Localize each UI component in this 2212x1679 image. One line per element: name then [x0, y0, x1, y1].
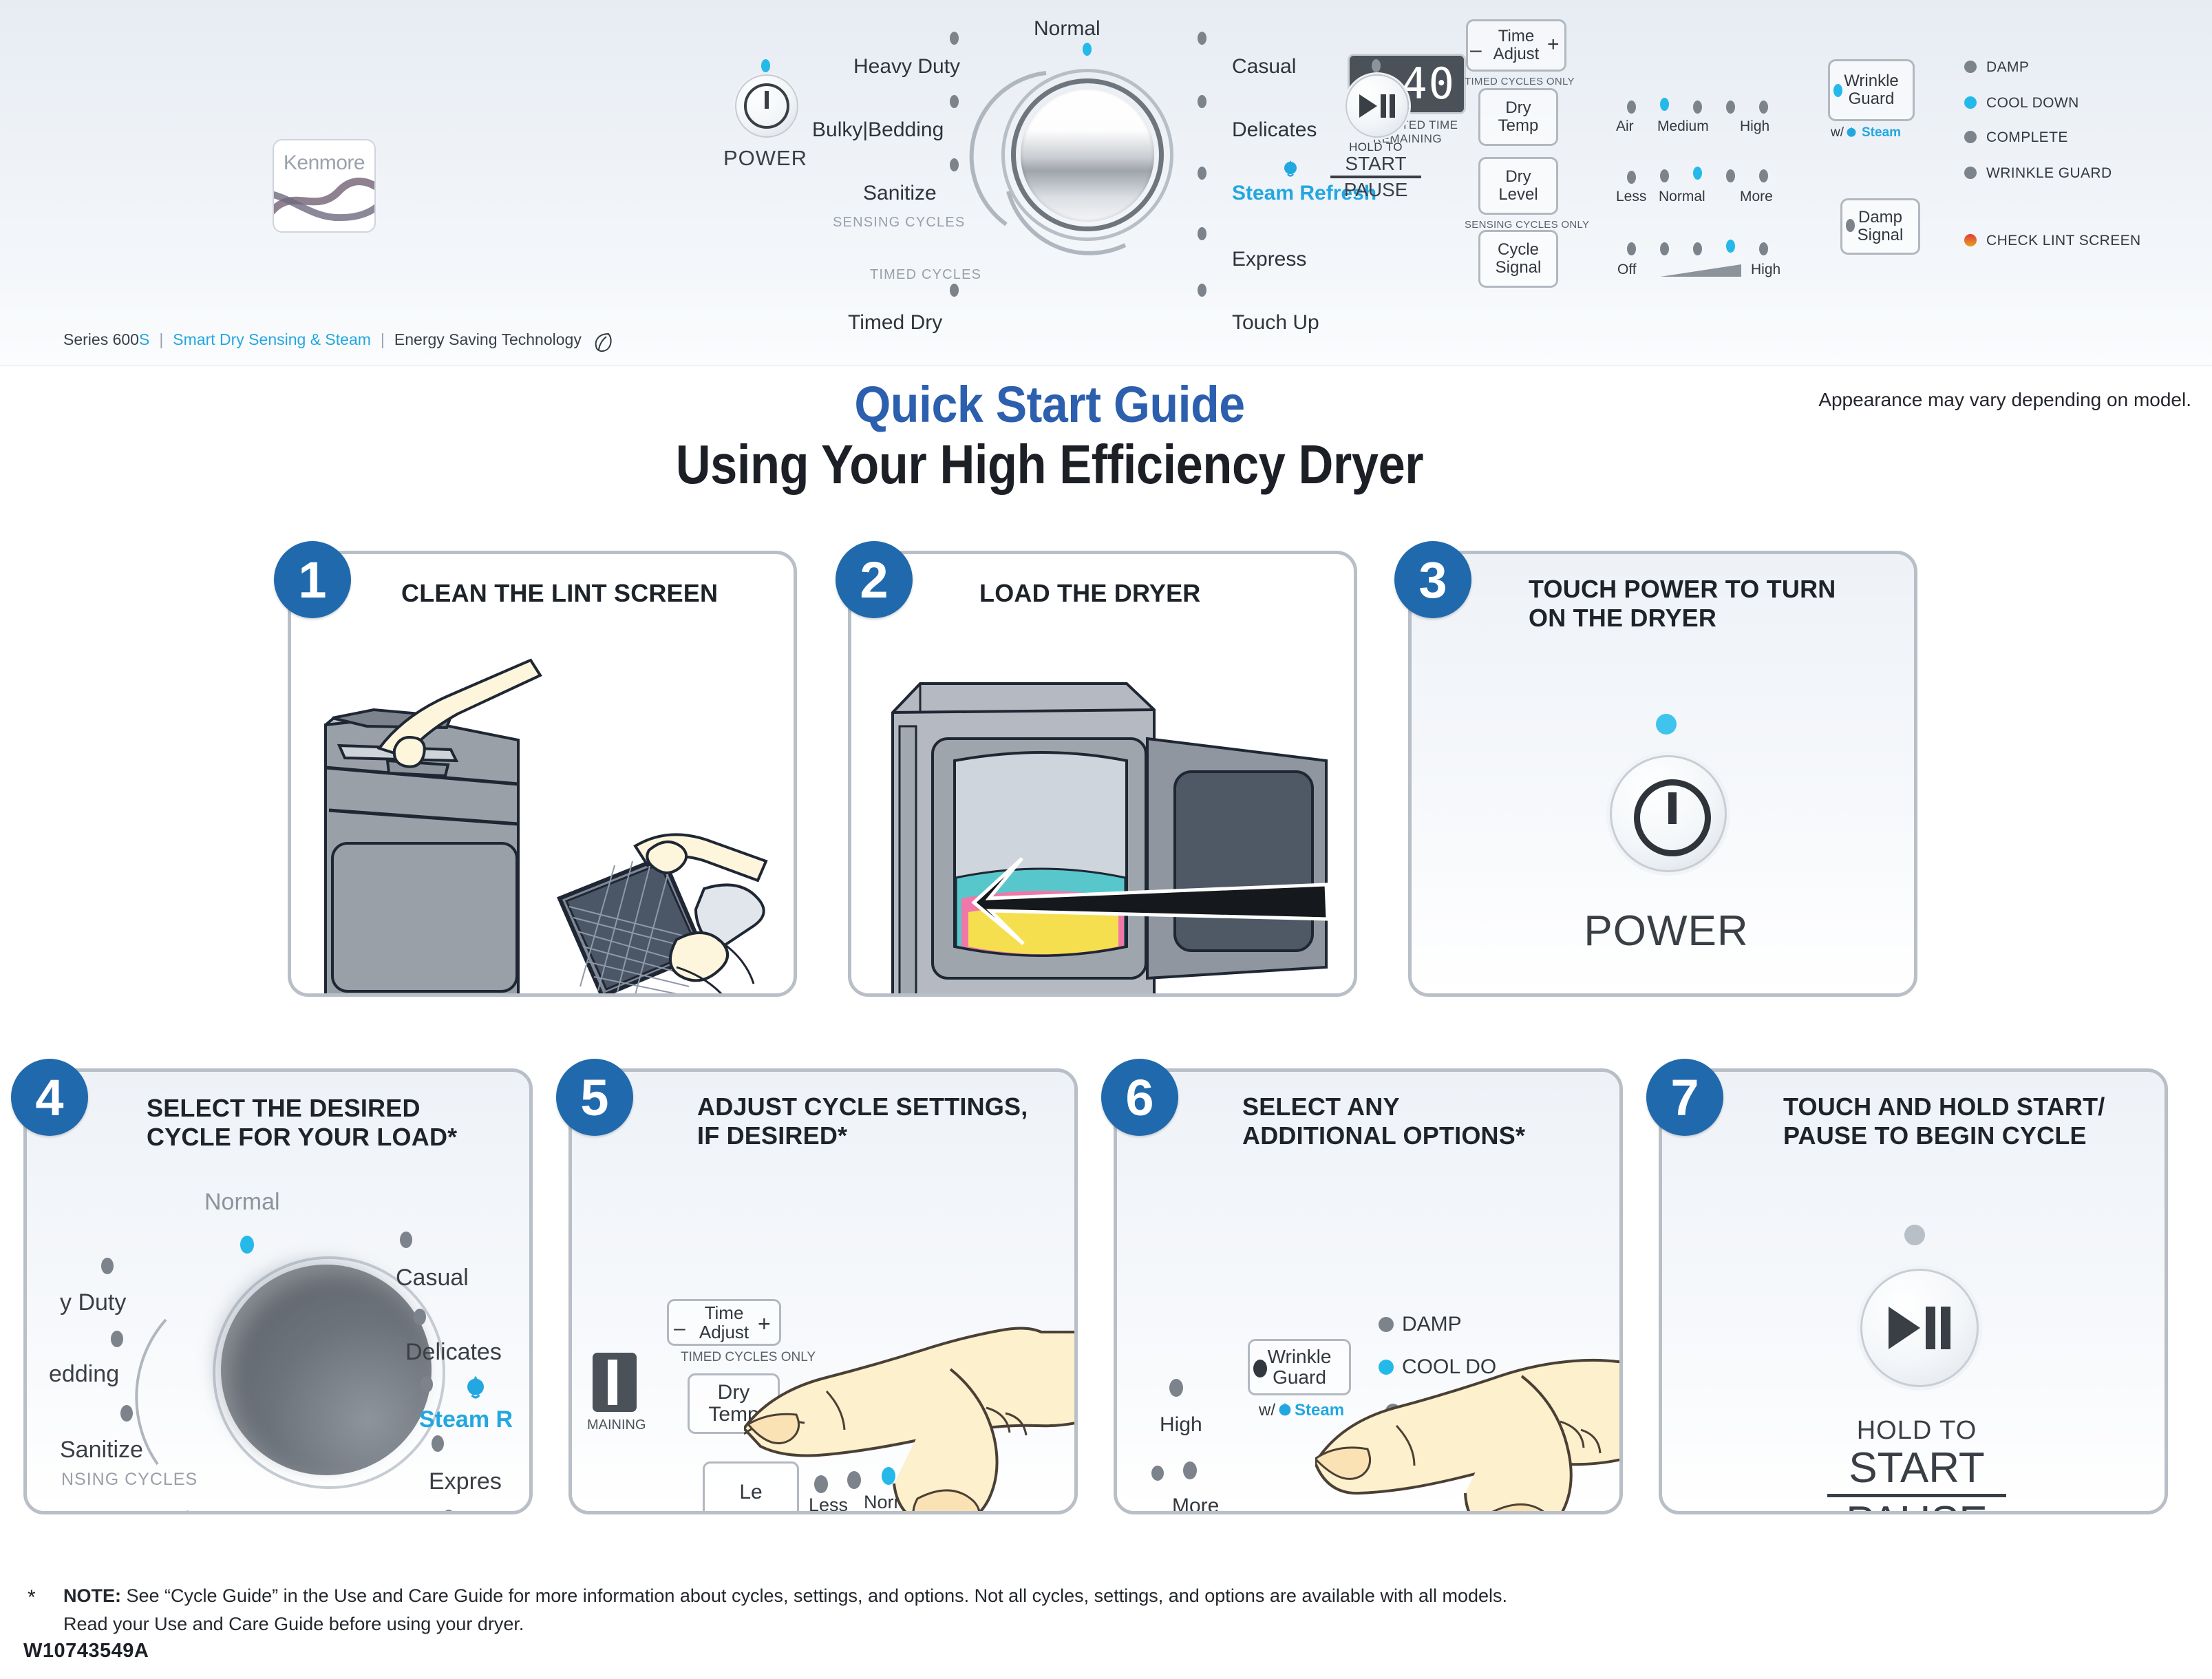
time-adjust-line2: Adjust — [1493, 45, 1540, 63]
cycle-led-casual — [1198, 32, 1206, 45]
status-label-check-lint-screen: CHECK LINT SCREEN — [1986, 233, 2141, 249]
power-led — [761, 59, 770, 72]
step-card-1: CLEAN THE LINT SCREEN — [288, 551, 797, 997]
cycle-signal-led-2 — [1660, 242, 1669, 255]
dry-temp-scale-mid: Medium — [1657, 118, 1709, 135]
feature-energy-saving: Energy Saving Technology — [394, 330, 582, 349]
step-card-2: LOAD THE DRYER — [848, 551, 1357, 997]
series-label: Series 600S — [63, 330, 149, 349]
step-5-title: ADJUST CYCLE SETTINGS, IF DESIRED* — [697, 1092, 1069, 1150]
step-card-6: Wrinkle Guard w/Steam D Sig DAMP COOL DO… — [1114, 1068, 1623, 1514]
step4-led-steam-refresh — [421, 1376, 433, 1393]
dry-temp-button[interactable]: Dry Temp — [1478, 88, 1558, 146]
play-icon — [1359, 94, 1377, 118]
step-card-4: Normal y Duty edding Sanitize NSING CYCL… — [23, 1068, 533, 1514]
dry-temp-led-4 — [1726, 101, 1735, 114]
part-number: W10743549A — [23, 1640, 149, 1662]
dryer-control-panel: Kenmore Series 600S | Smart Dry Sensing … — [0, 0, 2212, 366]
cycle-signal-line2: Signal — [1496, 259, 1542, 277]
step3-power-led — [1656, 714, 1677, 735]
dry-temp-led-1 — [1627, 101, 1636, 114]
power-button[interactable] — [735, 74, 798, 138]
cycle-led-steam-refresh — [1198, 167, 1206, 180]
cycle-label-bulky-bedding[interactable]: Bulky|Bedding — [812, 118, 944, 142]
time-adjust-minus-icon[interactable]: – — [1470, 39, 1482, 62]
appearance-disclaimer: Appearance may vary depending on model. — [1818, 389, 2191, 411]
power-button-group[interactable]: POWER — [735, 74, 798, 138]
step4-label-steam-refresh: Steam R — [419, 1406, 513, 1433]
step3-power-icon — [1634, 779, 1711, 856]
time-adjust-line1: Time — [1498, 28, 1534, 45]
dry-level-led-2 — [1660, 169, 1669, 182]
step5-hand-icon — [744, 1256, 1078, 1514]
cycle-led-sanitize — [950, 158, 959, 171]
step3-power-label: POWER — [1412, 907, 1917, 955]
group-label-sensing-cycles: SENSING CYCLES — [833, 215, 965, 231]
step-7-badge: 7 — [1646, 1059, 1723, 1136]
kenmore-wordmark: Kenmore — [274, 151, 374, 175]
cycle-label-sanitize[interactable]: Sanitize — [863, 182, 937, 205]
step4-label-delicates: Delicates — [405, 1339, 502, 1366]
wrinkle-guard-led — [1833, 84, 1842, 97]
wrinkle-guard-sub-prefix: w/ — [1831, 125, 1844, 140]
cycle-label-casual[interactable]: Casual — [1232, 55, 1296, 78]
step-3-badge: 3 — [1394, 541, 1471, 618]
dry-temp-scale-left: Air — [1616, 118, 1634, 135]
footnote-body: NOTE: See “Cycle Guide” in the Use and C… — [63, 1582, 2161, 1638]
step7-pause-bar-1-icon — [1926, 1307, 1935, 1349]
step6-steam-icon — [1275, 1402, 1295, 1424]
cycle-signal-led-5 — [1759, 242, 1768, 255]
status-label-damp: DAMP — [1986, 59, 2029, 76]
step-6-badge: 6 — [1101, 1059, 1178, 1136]
status-led-complete — [1964, 131, 1977, 143]
cycle-led-delicates — [1198, 95, 1206, 108]
step7-start-led — [1904, 1225, 1925, 1245]
power-icon — [744, 83, 789, 129]
step4-label-normal: Normal — [204, 1189, 280, 1216]
dry-level-scale-right: More — [1740, 189, 1773, 205]
step-3-title: TOUCH POWER TO TURN ON THE DRYER — [1529, 575, 1900, 633]
cycle-led-heavy-duty — [950, 32, 959, 45]
step4-led-sanitize — [120, 1405, 133, 1422]
dry-level-led-4 — [1726, 169, 1735, 182]
cycle-led-timed-dry — [950, 284, 959, 297]
step4-group-sensing: NSING CYCLES — [61, 1470, 198, 1490]
step-4-title: SELECT THE DESIRED CYCLE FOR YOUR LOAD* — [147, 1094, 518, 1152]
step6-scale-led-3 — [1151, 1466, 1164, 1481]
step-6-title: SELECT ANY ADDITIONAL OPTIONS* — [1242, 1092, 1614, 1150]
footnote-label: NOTE: — [63, 1585, 121, 1606]
group-label-timed-cycles: TIMED CYCLES — [870, 267, 981, 283]
step7-pause-label: PAUSE — [1827, 1497, 2006, 1514]
step-card-5: Time Adjust – + TIMED CYCLES ONLY MAININ… — [568, 1068, 1078, 1514]
step5-display-caption: MAINING — [587, 1417, 646, 1433]
damp-signal-led — [1846, 219, 1855, 232]
cycle-label-delicates[interactable]: Delicates — [1232, 118, 1317, 142]
step6-sub-prefix: w/ — [1259, 1401, 1275, 1419]
dry-temp-line2: Temp — [1498, 117, 1539, 135]
leaf-icon — [591, 330, 615, 354]
step4-steam-icon — [462, 1375, 489, 1404]
step1-illustration — [291, 554, 794, 993]
status-led-check-lint-screen — [1964, 234, 1977, 246]
time-adjust-plus-icon[interactable]: + — [1547, 33, 1560, 56]
cycle-label-heavy-duty[interactable]: Heavy Duty — [853, 55, 960, 78]
start-pause-hold-label: HOLD TO — [1330, 140, 1421, 154]
start-label: START — [1330, 153, 1421, 178]
dry-temp-led-3 — [1693, 101, 1702, 114]
wrinkle-guard-line1: Wrinkle — [1844, 72, 1899, 90]
cycle-label-express[interactable]: Express — [1232, 248, 1306, 271]
step4-label-sanitize: Sanitize — [60, 1437, 143, 1464]
step6-hand-icon — [1315, 1284, 1623, 1514]
cycle-led-express — [1198, 227, 1206, 240]
step7-play-icon — [1889, 1307, 1920, 1349]
footnote-line2: Read your Use and Care Guide before usin… — [63, 1614, 524, 1634]
step-card-3: POWER TOUCH POWER TO TURN ON THE DRYER — [1408, 551, 1917, 997]
cycle-signal-line1: Cycle — [1498, 241, 1539, 259]
step6-scale-high-1: High — [1160, 1413, 1202, 1437]
step-2-badge: 2 — [836, 541, 913, 618]
cycle-signal-led-1 — [1627, 242, 1636, 255]
step-card-7: HOLD TO START PAUSE TOUCH AND HOLD START… — [1659, 1068, 2168, 1514]
cycle-label-normal[interactable]: Normal — [1034, 17, 1100, 41]
series-separator-1: | — [159, 330, 163, 349]
cycle-signal-scale-right: High — [1751, 262, 1780, 278]
start-pause-led — [1372, 59, 1381, 72]
dry-level-led-3 — [1693, 167, 1702, 180]
pause-bar-1-icon — [1381, 94, 1386, 118]
step7-start-label: START — [1827, 1444, 2006, 1497]
step5-display — [593, 1353, 637, 1412]
power-label: POWER — [723, 146, 808, 171]
cycle-signal-button[interactable]: Cycle Signal — [1478, 230, 1558, 288]
estimated-time-value: 40 — [1401, 63, 1456, 105]
step7-hold-label: HOLD TO — [1662, 1416, 2168, 1446]
cycle-led-normal — [1083, 43, 1092, 56]
step4-led-casual — [400, 1232, 412, 1248]
step-1-title: CLEAN THE LINT SCREEN — [401, 579, 787, 608]
step4-led-delicates — [414, 1309, 426, 1325]
status-led-damp — [1964, 61, 1977, 73]
dry-level-led-1 — [1627, 171, 1636, 184]
step6-scale-led-1 — [1169, 1379, 1183, 1397]
cycle-signal-scale-left: Off — [1617, 262, 1637, 278]
page-subtitle: Using Your High Efficiency Dryer — [126, 433, 1973, 496]
step4-label-heavy-duty: y Duty — [60, 1289, 126, 1316]
cycle-label-touch-up[interactable]: Touch Up — [1232, 311, 1319, 335]
step7-start-pause-button[interactable] — [1860, 1269, 1979, 1387]
status-led-cool-down — [1964, 96, 1977, 109]
status-label-complete: COMPLETE — [1986, 129, 2068, 146]
step-5-badge: 5 — [556, 1059, 633, 1136]
page-title: Quick Start Guide — [84, 375, 2015, 434]
cycle-signal-led-3 — [1693, 242, 1702, 255]
volume-ramp-icon — [1660, 263, 1743, 278]
dry-level-button[interactable]: Dry Level — [1478, 157, 1558, 215]
status-led-wrinkle-guard — [1964, 167, 1977, 179]
step4-label-casual: Casual — [396, 1265, 469, 1291]
series-feature-bar: Series 600S | Smart Dry Sensing & Steam … — [63, 328, 615, 351]
step2-illustration — [851, 554, 1354, 993]
dry-temp-scale-right: High — [1740, 118, 1769, 135]
step6-scale-more: More — [1172, 1495, 1219, 1514]
footnote-star: * — [28, 1582, 36, 1613]
cycle-signal-led-4 — [1726, 240, 1735, 253]
step6-scale-led-2 — [1183, 1461, 1197, 1479]
step6-wrinkle-led — [1253, 1360, 1267, 1377]
dry-temp-led-2 — [1660, 98, 1669, 111]
start-pause-button[interactable] — [1346, 74, 1409, 138]
start-pause-group[interactable]: HOLD TO START PAUSE — [1346, 74, 1409, 138]
dry-level-sublabel: SENSING CYCLES ONLY — [1465, 219, 1589, 231]
step4-led-bedding — [111, 1331, 123, 1347]
series-separator-2: | — [381, 330, 385, 349]
pause-label: PAUSE — [1330, 179, 1421, 201]
dry-temp-led-5 — [1759, 101, 1768, 114]
time-adjust-sublabel: TIMED CYCLES ONLY — [1465, 76, 1575, 87]
wrinkle-guard-line2: Guard — [1849, 90, 1895, 108]
feature-smart-dry: Smart Dry Sensing & Steam — [173, 330, 371, 349]
page-header: Quick Start Guide Using Your High Effici… — [0, 375, 2212, 506]
steam-small-icon — [1844, 126, 1862, 142]
steam-icon — [1280, 160, 1298, 176]
step4-led-heavy-duty — [101, 1258, 114, 1274]
cycle-led-touch-up — [1198, 284, 1206, 297]
step-2-title: LOAD THE DRYER — [979, 579, 1337, 608]
step4-label-express: Expres — [429, 1468, 502, 1495]
cycle-led-bulky-bedding — [950, 95, 959, 108]
step5-time-minus-icon[interactable]: – — [674, 1317, 685, 1340]
kenmore-logo: Kenmore — [273, 139, 376, 233]
status-label-wrinkle-guard: WRINKLE GUARD — [1986, 165, 2112, 182]
cycle-selector-dial[interactable] — [1001, 69, 1173, 241]
step4-led-express — [432, 1435, 444, 1452]
step3-power-button[interactable] — [1610, 755, 1727, 872]
dry-level-scale-mid: Normal — [1659, 189, 1705, 205]
status-label-cool-down: COOL DOWN — [1986, 95, 2079, 112]
kenmore-swoosh-icon — [274, 176, 374, 227]
wrinkle-guard-sublabel: w/Steam — [1831, 125, 1901, 142]
cycle-label-timed-dry[interactable]: Timed Dry — [848, 311, 942, 335]
dry-temp-line1: Dry — [1505, 99, 1531, 117]
dry-level-led-5 — [1759, 169, 1768, 182]
step5-time-line1: Time — [705, 1303, 744, 1322]
step7-pause-bar-2-icon — [1941, 1307, 1950, 1349]
step4-led-normal — [240, 1236, 254, 1254]
damp-signal-line2: Signal — [1858, 226, 1904, 244]
dry-level-line2: Level — [1498, 186, 1538, 204]
step5-time-line2: Adjust — [699, 1322, 749, 1342]
step-7-title: TOUCH AND HOLD START/ PAUSE TO BEGIN CYC… — [1783, 1092, 2166, 1150]
wrinkle-guard-steam-label: Steam — [1862, 125, 1901, 140]
footnote-line1: See “Cycle Guide” in the Use and Care Gu… — [121, 1585, 1507, 1606]
pause-bar-2-icon — [1390, 94, 1395, 118]
step4-label-bedding: edding — [49, 1361, 119, 1388]
damp-signal-line1: Damp — [1858, 209, 1902, 226]
dial-knob[interactable] — [1021, 88, 1154, 222]
step-4-badge: 4 — [11, 1059, 88, 1136]
dry-level-scale-left: Less — [1616, 189, 1646, 205]
dry-level-line1: Dry — [1505, 168, 1531, 186]
footnote: * NOTE: See “Cycle Guide” in the Use and… — [28, 1582, 2161, 1638]
step-1-badge: 1 — [274, 541, 351, 618]
